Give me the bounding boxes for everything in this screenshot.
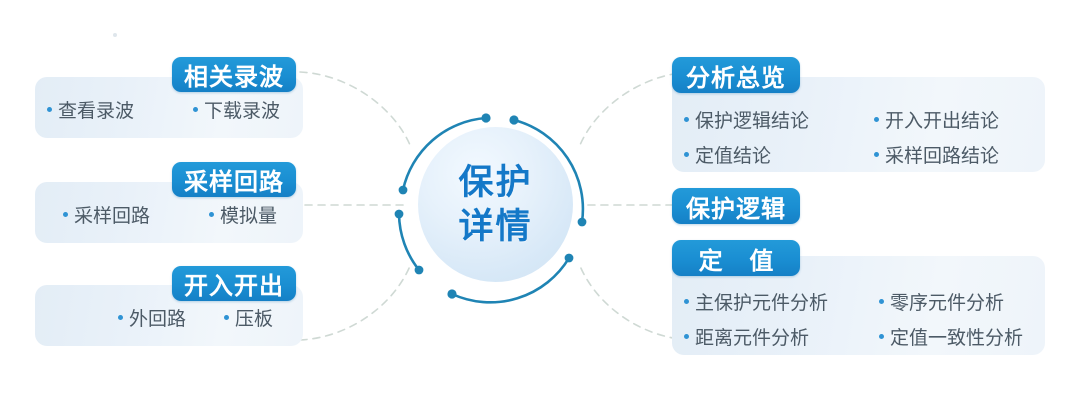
bullet-icon [209,212,214,217]
list-item-label: 零序元件分析 [890,288,1004,315]
bullet-icon [118,315,123,320]
hub-label-line-1: 保护 [458,162,532,203]
panel-digital-io-items: 外回路 压板 [118,304,303,331]
panel-sampling-circuit-items: 采样回路 模拟量 [63,201,303,228]
ring-arc-left [399,214,419,270]
list-item-label: 压板 [235,304,273,331]
bullet-icon [684,152,689,157]
list-item[interactable]: 距离元件分析 [684,323,879,350]
list-item[interactable]: 查看录波 [47,96,193,123]
list-item-label: 定值结论 [695,141,771,168]
center-hub-label: 保护 详情 [418,127,573,282]
dashed-connector-left-3 [300,266,410,340]
badge-digital-io[interactable]: 开入开出 [172,266,296,301]
list-item-label: 模拟量 [220,201,277,228]
list-item[interactable]: 零序元件分析 [879,288,1045,315]
badge-label: 分析总览 [686,58,786,93]
panel-settings-values-items: 主保护元件分析 零序元件分析 距离元件分析 定值一致性分析 [684,288,1045,350]
hub-label-line-2: 详情 [458,206,532,247]
list-item-label: 采样回路结论 [885,141,999,168]
list-item[interactable]: 定值一致性分析 [879,323,1045,350]
bullet-icon [224,315,229,320]
badge-label: 开入开出 [184,266,284,301]
list-item-label: 定值一致性分析 [890,323,1023,350]
diagram-canvas: 保护 详情 查看录波 下载录波 相关录波 采样回路 模拟量 采样回路 [0,0,1080,417]
badge-sampling-circuit[interactable]: 采样回路 [172,162,296,197]
list-item-label: 下载录波 [204,96,280,123]
panel-related-waveform-items: 查看录波 下载录波 [47,96,303,123]
list-item-label: 开入开出结论 [885,106,999,133]
bullet-icon [874,117,879,122]
dashed-connector-left-1 [300,72,410,145]
list-item[interactable]: 定值结论 [684,141,874,168]
list-item-label: 保护逻辑结论 [695,106,809,133]
list-item[interactable]: 外回路 [118,304,224,331]
bullet-icon [193,107,198,112]
list-item[interactable]: 保护逻辑结论 [684,106,874,133]
list-item[interactable]: 主保护元件分析 [684,288,879,315]
badge-label: 定 值 [689,241,784,276]
bullet-icon [874,152,879,157]
list-item-label: 查看录波 [58,96,134,123]
badge-label: 保护逻辑 [686,189,786,224]
panel-analysis-overview-items: 保护逻辑结论 开入开出结论 定值结论 采样回路结论 [684,106,1045,168]
badge-protection-logic[interactable]: 保护逻辑 [672,188,800,224]
list-item-label: 主保护元件分析 [695,288,828,315]
list-item[interactable]: 采样回路结论 [874,141,1045,168]
bullet-icon [47,107,52,112]
badge-related-waveform[interactable]: 相关录波 [172,57,296,92]
badge-settings-values[interactable]: 定 值 [672,240,800,276]
bullet-icon [684,334,689,339]
list-item-label: 采样回路 [74,201,150,228]
list-item-label: 距离元件分析 [695,323,809,350]
list-item[interactable]: 模拟量 [209,201,303,228]
bullet-icon [684,299,689,304]
bullet-icon [63,212,68,217]
badge-label: 采样回路 [184,162,284,197]
list-item[interactable]: 压板 [224,304,303,331]
list-item[interactable]: 采样回路 [63,201,209,228]
background-speck [113,33,117,37]
list-item[interactable]: 开入开出结论 [874,106,1045,133]
bullet-icon [684,117,689,122]
list-item-label: 外回路 [129,304,186,331]
list-item[interactable]: 下载录波 [193,96,303,123]
badge-analysis-overview[interactable]: 分析总览 [672,57,800,93]
bullet-icon [879,299,884,304]
bullet-icon [879,334,884,339]
badge-label: 相关录波 [184,57,284,92]
